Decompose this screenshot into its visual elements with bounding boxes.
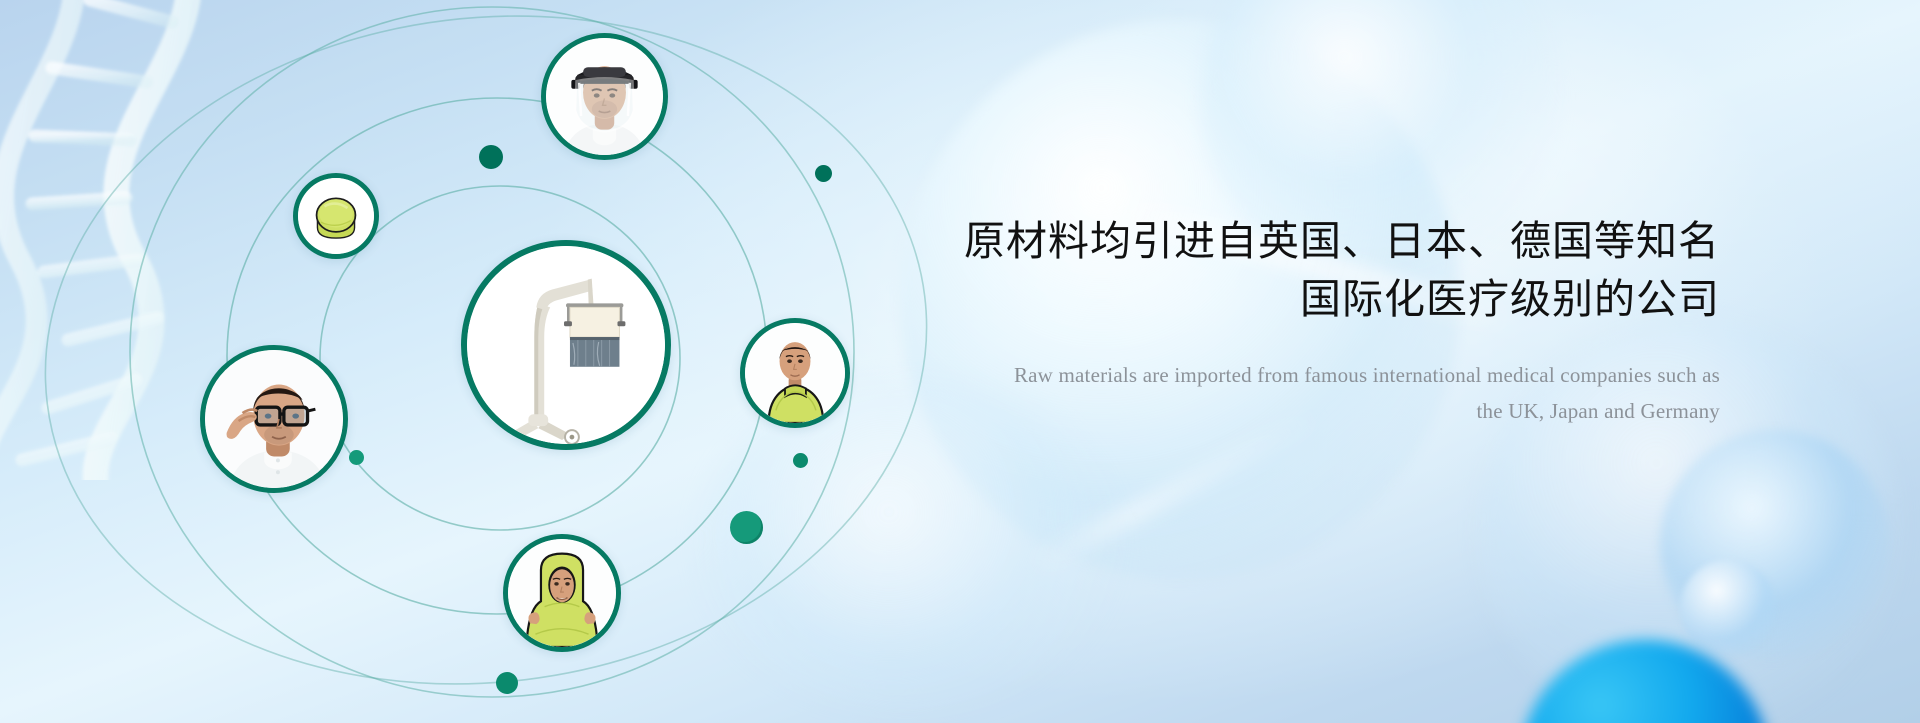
node-lead-glasses-image	[205, 350, 343, 488]
accent-dot-4	[793, 453, 808, 468]
accent-dot-3	[349, 450, 364, 465]
banner-copy: 原材料均引进自英国、日本、德国等知名 国际化医疗级别的公司 Raw materi…	[900, 212, 1720, 429]
headline-line-1: 原材料均引进自英国、日本、德国等知名	[900, 212, 1720, 270]
headline-line-2: 国际化医疗级别的公司	[900, 270, 1720, 328]
node-protective-hood[interactable]	[503, 534, 621, 652]
molecule-sphere-small	[1660, 430, 1890, 660]
accent-dot-5	[730, 511, 763, 544]
node-lead-glasses[interactable]	[200, 345, 348, 493]
subtitle-line-1: Raw materials are imported from famous i…	[900, 358, 1720, 393]
node-protective-hood-image	[508, 539, 616, 647]
node-protective-cap-image	[298, 178, 374, 254]
banner-subtitle: Raw materials are imported from famous i…	[900, 358, 1720, 429]
node-mobile-screen[interactable]	[461, 240, 671, 450]
node-protective-cap[interactable]	[293, 173, 379, 259]
accent-dot-1	[479, 145, 503, 169]
banner-headline: 原材料均引进自英国、日本、德国等知名 国际化医疗级别的公司	[900, 212, 1720, 328]
subtitle-line-2: the UK, Japan and Germany	[900, 394, 1720, 429]
accent-dot-2	[815, 165, 832, 182]
node-thyroid-collar[interactable]	[740, 318, 850, 428]
node-face-shield-image	[546, 38, 663, 155]
hero-banner: 原材料均引进自英国、日本、德国等知名 国际化医疗级别的公司 Raw materi…	[0, 0, 1920, 723]
molecule-sphere-tiny	[1680, 560, 1776, 656]
molecule-bond-lower	[1024, 404, 1326, 578]
node-face-shield[interactable]	[541, 33, 668, 160]
node-thyroid-collar-image	[745, 323, 845, 423]
molecule-sphere-accent-blue	[1520, 640, 1770, 723]
node-mobile-screen-image	[467, 246, 665, 444]
accent-dot-6	[496, 672, 518, 694]
